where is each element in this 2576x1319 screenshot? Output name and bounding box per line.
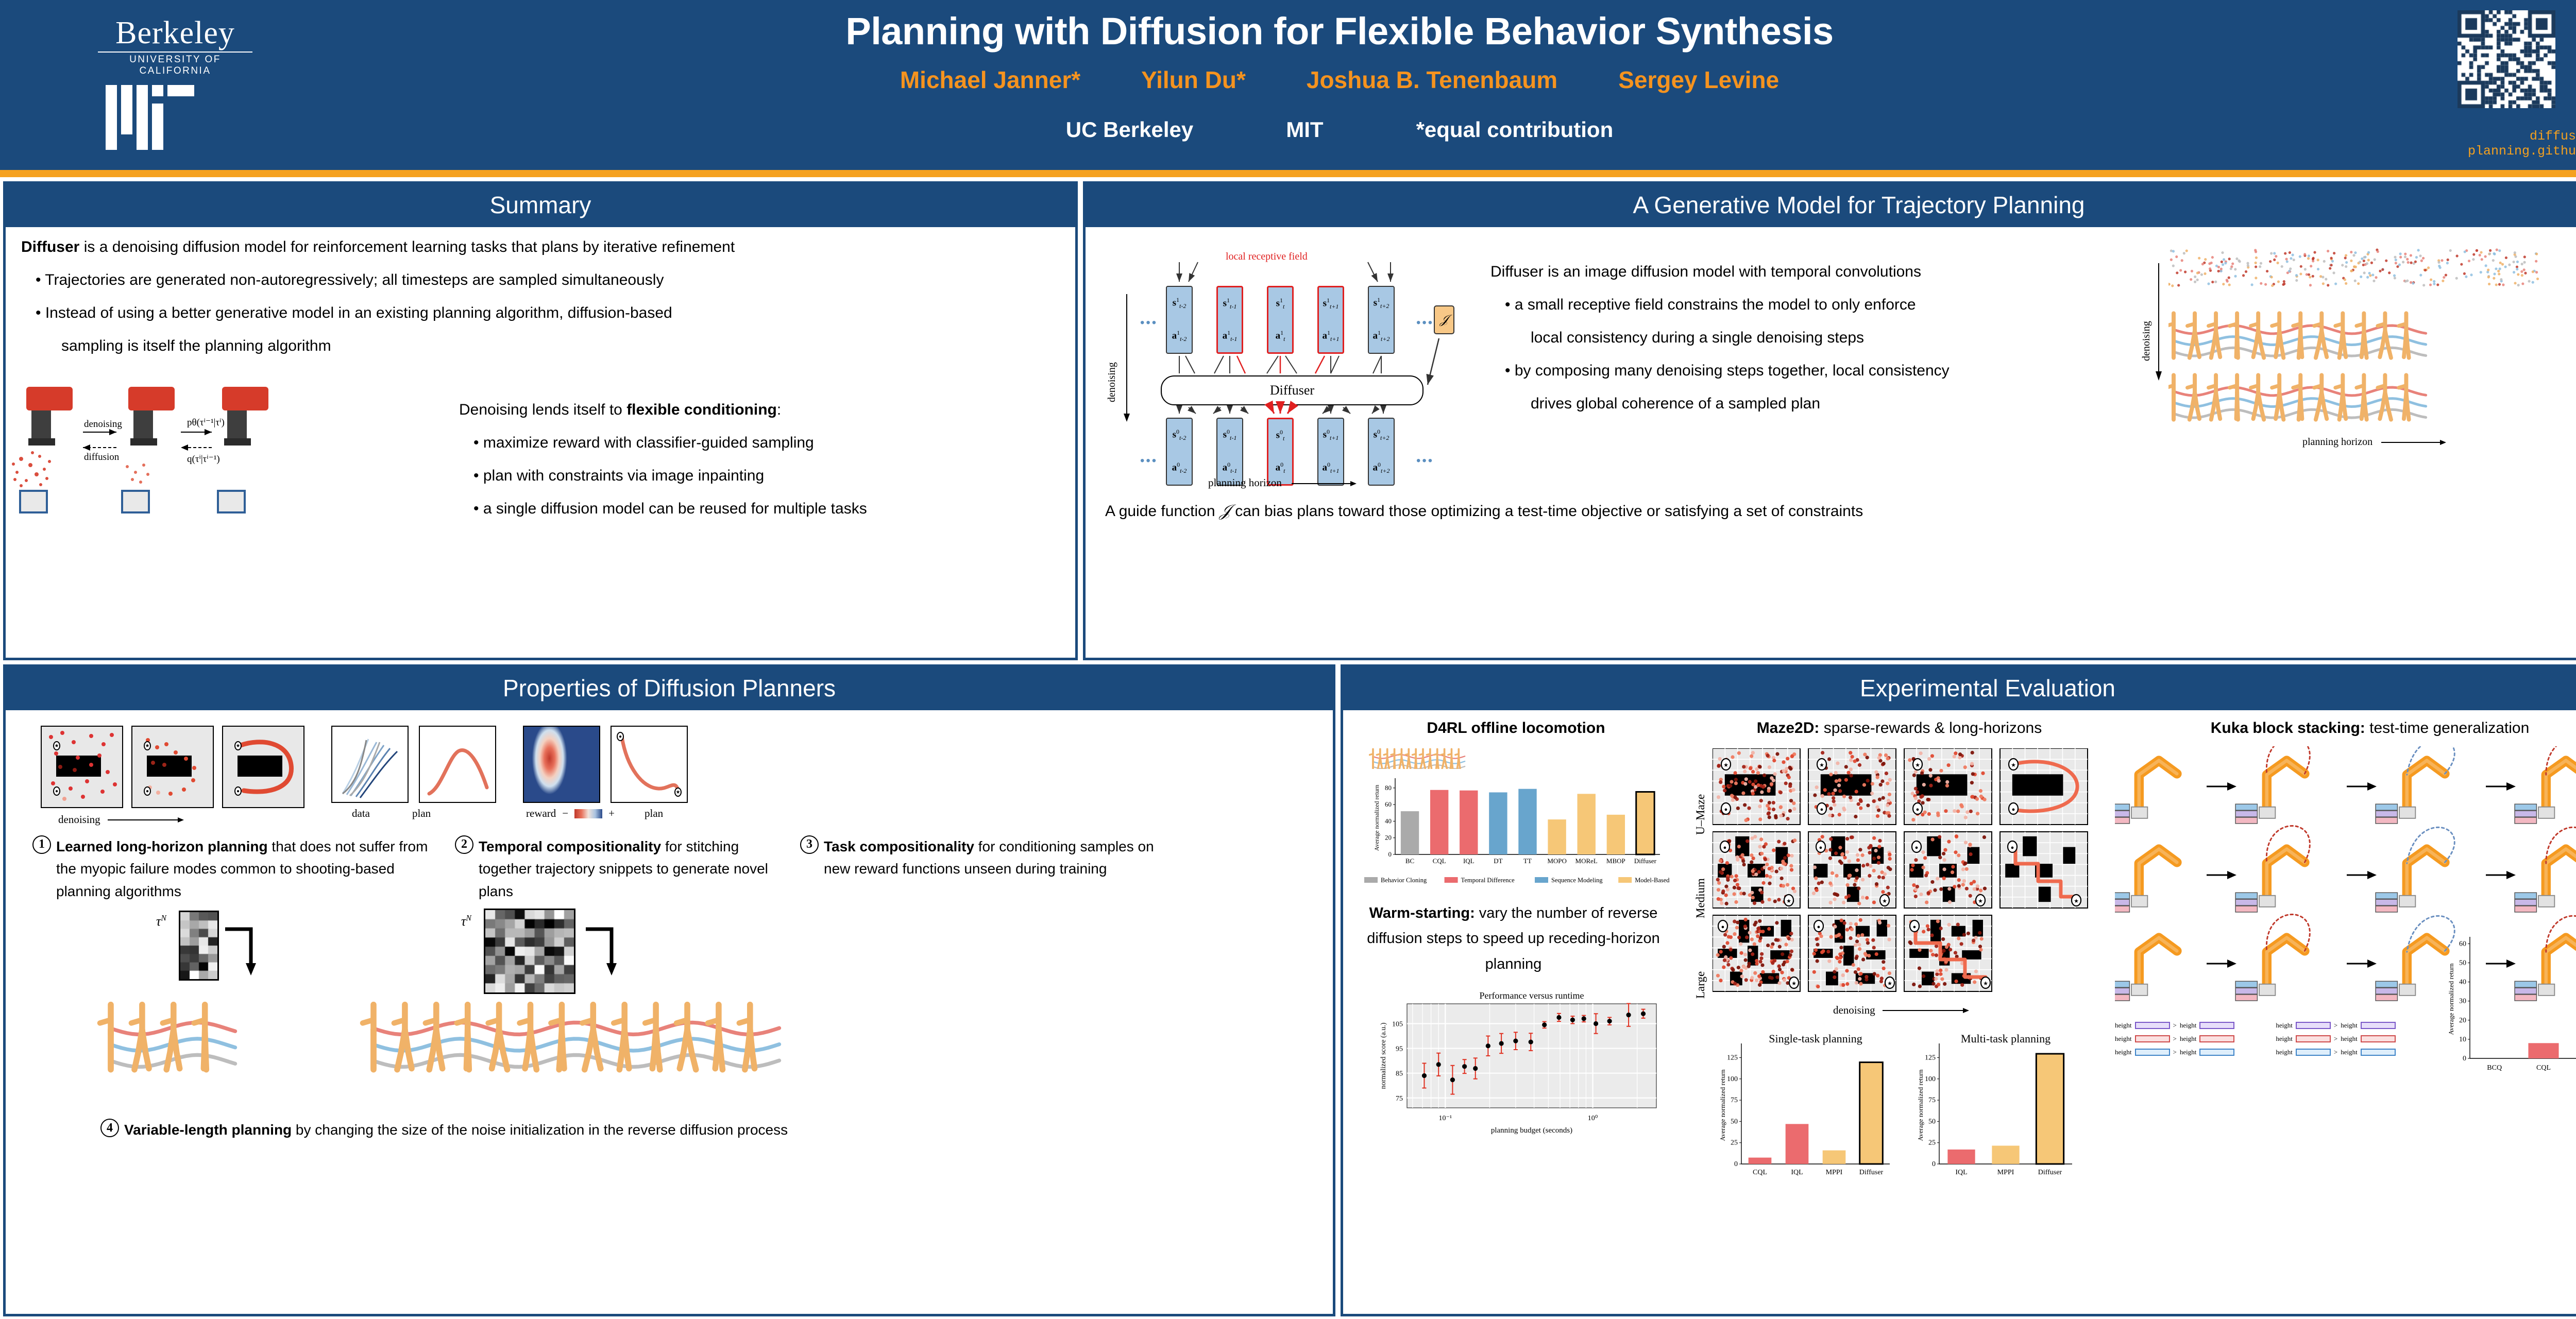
d4rl-title: D4RL offline locomotion bbox=[1350, 720, 1682, 737]
svg-text:IQL: IQL bbox=[1955, 1169, 1967, 1176]
summary-lead-bold: Diffuser bbox=[21, 238, 79, 255]
author-2: Joshua B. Tenenbaum bbox=[1307, 66, 1557, 94]
genmodel-footer-pre: A guide function bbox=[1105, 503, 1219, 520]
planning-horizon-text: planning horizon bbox=[1208, 476, 1282, 489]
svg-text:20: 20 bbox=[2459, 1017, 2466, 1024]
maze-goal-marker: ★ bbox=[144, 741, 151, 750]
kuka-height-label-b: height bbox=[2180, 1021, 2197, 1030]
conditioning-bullet-0: • maximize reward with classifier-guided… bbox=[487, 435, 1075, 451]
genmodel-bullet-3: drives global coherence of a sampled pla… bbox=[1531, 396, 2127, 412]
reward-heatmap bbox=[523, 726, 600, 803]
kuka-constraints-row: height>height height>height height>heigh… bbox=[2115, 1016, 2576, 1079]
kuka-block-swatch-b bbox=[2361, 1022, 2396, 1029]
maze-goal-marker: ★ bbox=[53, 741, 60, 750]
maze-start-marker: ● bbox=[53, 786, 60, 796]
svg-text:25: 25 bbox=[1731, 1139, 1738, 1147]
svg-text:★: ★ bbox=[2011, 762, 2016, 768]
svg-text:MPPI: MPPI bbox=[1997, 1169, 2014, 1176]
ellipsis-right-top: ••• bbox=[1416, 316, 1434, 330]
kuka-height-label-b: height bbox=[2341, 1035, 2358, 1043]
kuka-block-swatch-b bbox=[2361, 1049, 2396, 1056]
tau-label-short: τN bbox=[156, 914, 166, 929]
trajfig-denoising-label: denoising bbox=[2141, 321, 2153, 361]
maze2d-title-bold: Maze2D: bbox=[1757, 720, 1820, 736]
kuka-gt-symbol: > bbox=[2334, 1048, 2337, 1056]
label-reward: reward bbox=[526, 807, 556, 820]
schematic-denoising-label: denoising bbox=[1106, 362, 1118, 402]
svg-text:10: 10 bbox=[2459, 1036, 2466, 1043]
svg-text:●: ● bbox=[1915, 845, 1919, 851]
conditioning-lead-pre: Denoising lends itself to bbox=[459, 401, 626, 418]
svg-text:85: 85 bbox=[1396, 1070, 1403, 1078]
summary-conditioning: Denoising lends itself to flexible condi… bbox=[459, 371, 1075, 534]
kuka-gt-symbol: > bbox=[2173, 1035, 2177, 1043]
summary-heading: Summary bbox=[6, 184, 1075, 227]
svg-text:40: 40 bbox=[2459, 979, 2466, 986]
properties-figure-strip: ★ ● bbox=[18, 720, 1320, 826]
kuka-height-label-b: height bbox=[2341, 1048, 2358, 1056]
kuka-height-label-a: height bbox=[2115, 1035, 2132, 1043]
properties-heading: Properties of Diffusion Planners bbox=[6, 667, 1333, 710]
svg-text:Temporal Difference: Temporal Difference bbox=[1461, 877, 1515, 884]
prop1-denoising-label: denoising bbox=[58, 813, 100, 826]
svg-text:★: ★ bbox=[1819, 762, 1824, 768]
maze-grid: U–Maze Medium Large ★●★●★●★●●★●★●★●★●★●★… bbox=[1689, 748, 2110, 1017]
maze-row-label-0: U–Maze bbox=[1694, 794, 1707, 835]
genmodel-trajectory-figure: denoising planning horizon bbox=[2132, 232, 2576, 500]
property-item-4: 4 Variable-length planning by changing t… bbox=[18, 1119, 1320, 1141]
maze2d-title-rest: sparse-rewards & long-horizons bbox=[1819, 720, 2042, 736]
svg-text:TT: TT bbox=[1524, 857, 1532, 865]
svg-text:Multi-task planning: Multi-task planning bbox=[1961, 1032, 2050, 1045]
experiments-columns: D4RL offline locomotion 020406080BCCQLIQ… bbox=[1343, 710, 2576, 1183]
svg-text:★: ★ bbox=[1978, 898, 1983, 904]
svg-text:●: ● bbox=[2012, 807, 2015, 813]
kuka-constraint-5: height>height bbox=[2276, 1048, 2395, 1056]
author-3: Sergey Levine bbox=[1618, 66, 1779, 94]
qr-code[interactable] bbox=[2458, 10, 2555, 108]
maze-start-marker: ● bbox=[144, 786, 151, 796]
kuka-constraints-right: height>height height>height height>heigh… bbox=[2276, 1016, 2395, 1079]
svg-text:●: ● bbox=[1724, 807, 1728, 813]
kuka-title-rest: test-time generalization bbox=[2365, 720, 2530, 736]
maze-thumb-noisy: ★ ● bbox=[41, 726, 123, 808]
warm-start-text: Warm-starting: vary the number of revers… bbox=[1350, 888, 1682, 977]
kuka-block-swatch-b bbox=[2199, 1035, 2234, 1042]
kuka-title: Kuka block stacking: test-time generaliz… bbox=[2115, 720, 2576, 737]
state-action-box-top-4: s1t+2a1t+2 bbox=[1368, 286, 1395, 354]
kuka-title-bold: Kuka block stacking: bbox=[2211, 720, 2365, 736]
state-action-box-top-1: s1t-1a1t-1 bbox=[1216, 286, 1243, 354]
maze2d-title: Maze2D: sparse-rewards & long-horizons bbox=[1689, 720, 2110, 737]
svg-text:DT: DT bbox=[1494, 857, 1503, 865]
property-item-1: 1 Learned long-horizon planning that doe… bbox=[32, 835, 439, 902]
label-reward-plus: + bbox=[608, 807, 615, 820]
summary-lead: Diffuser is a denoising diffusion model … bbox=[21, 239, 1060, 255]
kuka-block-swatch-b bbox=[2199, 1049, 2234, 1056]
svg-text:Behavior Cloning: Behavior Cloning bbox=[1381, 877, 1427, 884]
variable-length-figure: τN τN bbox=[18, 905, 1320, 1122]
panel-experiments: Experimental Evaluation D4RL offline loc… bbox=[1341, 664, 2576, 1316]
conditioning-bullet-1: • plan with constraints via image inpain… bbox=[487, 468, 1075, 484]
property-bold-3: Task compositionality bbox=[824, 838, 974, 854]
kuka-height-label-b: height bbox=[2180, 1048, 2197, 1056]
trajfig-horizon-label: planning horizon bbox=[2302, 436, 2447, 448]
plan-goal-marker: ★ bbox=[674, 787, 682, 797]
prop-fig-1: ★ ● bbox=[41, 726, 304, 826]
berkeley-logo: Berkeley UNIVERSITY OF CALIFORNIA bbox=[98, 15, 252, 72]
state-action-box-bottom-1: s0t-1a0t-1 bbox=[1216, 418, 1243, 486]
prop-fig-2: data plan bbox=[331, 726, 496, 826]
svg-text:0: 0 bbox=[1734, 1160, 1738, 1168]
svg-text:Diffuser: Diffuser bbox=[1634, 857, 1657, 865]
svg-text:Average normalized return: Average normalized return bbox=[1719, 1069, 1726, 1141]
conditioning-lead-post: : bbox=[777, 401, 781, 418]
maze-thumb-mid: ★ ● bbox=[131, 726, 214, 808]
svg-text:MOPO: MOPO bbox=[1548, 857, 1567, 865]
page-title: Planning with Diffusion for Flexible Beh… bbox=[670, 9, 2009, 53]
svg-text:BC: BC bbox=[1405, 857, 1414, 865]
genmodel-text: Diffuser is an image diffusion model wit… bbox=[1478, 232, 2132, 500]
svg-text:50: 50 bbox=[1928, 1118, 1936, 1125]
ellipsis-left-bottom: ••• bbox=[1140, 454, 1158, 468]
maze-row-label-2: Large bbox=[1694, 971, 1707, 999]
local-receptive-field-label: local receptive field bbox=[1226, 251, 1308, 263]
svg-text:●: ● bbox=[1723, 845, 1727, 851]
label-plan: plan bbox=[412, 807, 431, 820]
svg-text:●: ● bbox=[1817, 924, 1821, 930]
svg-text:★: ★ bbox=[1887, 981, 1892, 987]
svg-text:50: 50 bbox=[1731, 1118, 1738, 1125]
kuka-height-label-a: height bbox=[2276, 1021, 2293, 1030]
genmodel-lead: Diffuser is an image diffusion model wit… bbox=[1490, 264, 2127, 280]
state-action-box-top-2: s1ta1t bbox=[1267, 286, 1294, 354]
tau-label-long: τN bbox=[461, 914, 471, 929]
svg-text:Model-Based Planning: Model-Based Planning bbox=[1635, 877, 1671, 884]
conditioning-lead-bold: flexible conditioning bbox=[626, 401, 777, 418]
genmodel-bullet-0: • a small receptive field constrains the… bbox=[1518, 297, 2127, 313]
svg-text:10⁻¹: 10⁻¹ bbox=[1439, 1115, 1452, 1122]
svg-text:60: 60 bbox=[1385, 800, 1392, 808]
kuka-constraint-0: height>height bbox=[2115, 1021, 2234, 1030]
svg-text:★: ★ bbox=[1882, 898, 1887, 904]
diffuser-schematic: denoising local receptive field ••• ••• … bbox=[1097, 232, 1478, 500]
properties-body: ★ ● bbox=[6, 710, 1333, 1151]
genmodel-footer: A guide function 𝒥 can bias plans toward… bbox=[1086, 500, 2576, 519]
ellipsis-left-top: ••• bbox=[1140, 316, 1158, 330]
svg-text:Average normalized return: Average normalized return bbox=[1917, 1069, 1924, 1141]
svg-text:normalized score (a.u.): normalized score (a.u.) bbox=[1380, 1022, 1387, 1089]
kuka-height-label-a: height bbox=[2276, 1035, 2293, 1043]
label-diffusion: diffusion bbox=[84, 452, 120, 462]
svg-text:60: 60 bbox=[2459, 940, 2466, 948]
label-plan-3: plan bbox=[645, 807, 663, 820]
ellipsis-right-bottom: ••• bbox=[1416, 454, 1434, 468]
state-action-box-top-0: s1t-2a1t-2 bbox=[1166, 286, 1193, 354]
kuka-gt-symbol: > bbox=[2334, 1021, 2337, 1030]
svg-text:80: 80 bbox=[1385, 784, 1392, 792]
svg-text:●: ● bbox=[1913, 924, 1917, 930]
kuka-constraint-4: height>height bbox=[2276, 1035, 2395, 1043]
state-action-box-bottom-0: s0t-2a0t-2 bbox=[1166, 418, 1193, 486]
svg-text:●: ● bbox=[1820, 807, 1824, 813]
svg-text:10⁰: 10⁰ bbox=[1588, 1115, 1598, 1122]
summary-bullet-2: sampling is itself the planning algorith… bbox=[61, 338, 1060, 354]
kuka-gt-symbol: > bbox=[2173, 1048, 2177, 1056]
kuka-block-swatch-a bbox=[2296, 1049, 2331, 1056]
svg-text:●: ● bbox=[1721, 924, 1725, 930]
property-number-3: 3 bbox=[800, 835, 819, 854]
svg-text:IQL: IQL bbox=[1463, 857, 1475, 865]
kuka-block-swatch-a bbox=[2296, 1022, 2331, 1029]
planning-horizon-label: planning horizon bbox=[1208, 476, 1358, 489]
kuka-height-label-a: height bbox=[2115, 1021, 2132, 1030]
svg-text:CQL: CQL bbox=[1753, 1169, 1767, 1176]
svg-text:75: 75 bbox=[1731, 1097, 1738, 1104]
state-action-box-bottom-3: s0t+1a0t+1 bbox=[1317, 418, 1344, 486]
affiliation-2: *equal contribution bbox=[1416, 117, 1614, 142]
svg-text:●: ● bbox=[1819, 845, 1823, 851]
svg-text:0: 0 bbox=[2463, 1055, 2466, 1063]
experiments-heading: Experimental Evaluation bbox=[1343, 667, 2576, 710]
header-divider bbox=[0, 170, 2576, 177]
property-item-2: 2 Temporal compositionality for stitchin… bbox=[455, 835, 785, 902]
svg-text:CQL: CQL bbox=[2536, 1064, 2551, 1072]
exp-col-kuka: Kuka block stacking: test-time generaliz… bbox=[2110, 715, 2576, 1183]
poster-header: Berkeley UNIVERSITY OF CALIFORNIA Planni… bbox=[0, 0, 2576, 170]
summary-bullet-0: • Trajectories are generated non-autoreg… bbox=[49, 272, 1060, 288]
summary-body: Diffuser is a denoising diffusion model … bbox=[6, 227, 1075, 354]
kuka-height-label-a: height bbox=[2115, 1048, 2132, 1056]
berkeley-wordmark: Berkeley bbox=[98, 15, 252, 50]
panel-summary: Summary Diffuser is a denoising diffusio… bbox=[3, 181, 1078, 660]
svg-text:75: 75 bbox=[1928, 1097, 1936, 1104]
properties-items-row: 1 Learned long-horizon planning that doe… bbox=[18, 826, 1320, 902]
svg-text:95: 95 bbox=[1396, 1045, 1403, 1053]
diffuser-module: Diffuser bbox=[1161, 375, 1423, 405]
exp-col-maze2d: Maze2D: sparse-rewards & long-horizons U… bbox=[1682, 715, 2110, 1183]
svg-text:★: ★ bbox=[1723, 762, 1728, 768]
berkeley-subtitle: UNIVERSITY OF CALIFORNIA bbox=[98, 52, 252, 77]
svg-text:MPPI: MPPI bbox=[1826, 1169, 1843, 1176]
maze-denoising-label: denoising bbox=[1833, 1004, 1875, 1017]
kuka-gt-symbol: > bbox=[2173, 1021, 2177, 1030]
svg-text:Single-task planning: Single-task planning bbox=[1769, 1032, 1862, 1045]
panel-properties: Properties of Diffusion Planners bbox=[3, 664, 1335, 1316]
svg-text:★: ★ bbox=[1915, 762, 1920, 768]
author-list: Michael Janner* Yilun Du* Joshua B. Tene… bbox=[670, 66, 2009, 94]
maze-row-label-1: Medium bbox=[1694, 878, 1707, 918]
plan-plot bbox=[419, 726, 496, 803]
genmodel-footer-post: can bias plans toward those optimizing a… bbox=[1231, 503, 1863, 520]
genmodel-heading: A Generative Model for Trajectory Planni… bbox=[1086, 184, 2576, 227]
property-number-1: 1 bbox=[32, 835, 51, 854]
plan-start-marker: ● bbox=[617, 732, 624, 741]
svg-text:100: 100 bbox=[1925, 1075, 1936, 1083]
author-1: Yilun Du* bbox=[1141, 66, 1246, 94]
kuka-height-label-b: height bbox=[2180, 1035, 2197, 1043]
conditioning-lead: Denoising lends itself to flexible condi… bbox=[459, 402, 1075, 418]
svg-text:30: 30 bbox=[2459, 998, 2466, 1005]
svg-text:Diffuser: Diffuser bbox=[1859, 1169, 1884, 1176]
genmodel-footer-symbol: 𝒥 bbox=[1219, 501, 1231, 520]
kuka-constraint-3: height>height bbox=[2276, 1021, 2395, 1030]
task-plan-plot: ● ★ bbox=[611, 726, 688, 803]
kuka-block-swatch-a bbox=[2296, 1035, 2331, 1042]
state-action-box-bottom-2: s0ta0t bbox=[1267, 418, 1294, 486]
label-p-theta: pθ(τⁱ⁻¹|τⁱ) bbox=[187, 417, 225, 428]
kuka-block-swatch-b bbox=[2361, 1035, 2396, 1042]
maze-start-marker: ● bbox=[234, 786, 242, 796]
summary-bullet-1: • Instead of using a better generative m… bbox=[49, 305, 1060, 321]
svg-text:20: 20 bbox=[1385, 834, 1392, 842]
svg-text:40: 40 bbox=[1385, 817, 1392, 825]
kuka-block-swatch-a bbox=[2135, 1035, 2170, 1042]
svg-text:★: ★ bbox=[2074, 898, 2079, 904]
maze-bar-charts: Single-task planning0255075100125CQLIQLM… bbox=[1709, 1028, 2110, 1183]
warm-start-bold: Warm-starting: bbox=[1369, 905, 1475, 921]
affiliation-list: UC Berkeley MIT *equal contribution bbox=[670, 117, 2009, 142]
state-action-box-top-3: s1t+1a1t+1 bbox=[1317, 286, 1344, 354]
svg-text:●: ● bbox=[2011, 845, 2014, 851]
label-denoising: denoising bbox=[84, 419, 122, 430]
trajfig-horizon-text: planning horizon bbox=[2302, 436, 2372, 448]
data-plot bbox=[331, 726, 409, 803]
svg-text:100: 100 bbox=[1727, 1075, 1738, 1083]
genmodel-bullet-2: • by composing many denoising steps toge… bbox=[1518, 363, 2127, 379]
poster-root: Berkeley UNIVERSITY OF CALIFORNIA Planni… bbox=[0, 0, 2576, 1319]
genmodel-bullet-1: local consistency during a single denois… bbox=[1531, 330, 2127, 346]
kuka-block-swatch-b bbox=[2199, 1022, 2234, 1029]
panel-generative-model: A Generative Model for Trajectory Planni… bbox=[1083, 181, 2576, 660]
svg-text:0: 0 bbox=[1932, 1160, 1936, 1168]
svg-text:105: 105 bbox=[1392, 1020, 1403, 1028]
project-url[interactable]: diffusion-planning.github.io bbox=[2391, 129, 2576, 159]
label-data: data bbox=[352, 807, 370, 820]
guide-function-box: 𝒥 bbox=[1434, 305, 1454, 334]
kuka-constraint-1: height>height bbox=[2115, 1035, 2234, 1043]
svg-text:★: ★ bbox=[1786, 898, 1791, 904]
genmodel-row: denoising local receptive field ••• ••• … bbox=[1086, 227, 2576, 500]
svg-text:★: ★ bbox=[1791, 981, 1797, 987]
affiliation-1: MIT bbox=[1286, 117, 1323, 142]
svg-text:Sequence Modeling: Sequence Modeling bbox=[1551, 877, 1603, 884]
summary-lead-rest: is a denoising diffusion model for reinf… bbox=[79, 238, 735, 255]
kuka-constraints-left: height>height height>height height>heigh… bbox=[2115, 1016, 2234, 1079]
summary-figure-row: denoising diffusion pθ(τⁱ⁻¹|τⁱ) q(τⁱ|τⁱ⁻… bbox=[6, 371, 1075, 534]
svg-text:planning budget (seconds): planning budget (seconds) bbox=[1491, 1126, 1572, 1135]
svg-text:125: 125 bbox=[1925, 1054, 1936, 1061]
property-bold-1: Learned long-horizon planning bbox=[56, 838, 268, 854]
kuka-block-swatch-a bbox=[2135, 1022, 2170, 1029]
kuka-constraint-2: height>height bbox=[2115, 1048, 2234, 1056]
property-number-2: 2 bbox=[455, 835, 473, 854]
svg-text:75: 75 bbox=[1396, 1095, 1403, 1103]
svg-text:25: 25 bbox=[1928, 1139, 1936, 1147]
svg-text:Diffuser: Diffuser bbox=[2038, 1169, 2062, 1176]
maze-goal-marker: ★ bbox=[234, 741, 242, 750]
reward-colorbar bbox=[574, 809, 602, 818]
svg-text:50: 50 bbox=[2459, 960, 2466, 967]
svg-text:CQL: CQL bbox=[1433, 857, 1446, 865]
svg-text:Average normalized return: Average normalized return bbox=[1373, 785, 1380, 851]
maze-thumb-plan: ★ ● bbox=[222, 726, 304, 808]
svg-text:0: 0 bbox=[1388, 850, 1392, 858]
author-0: Michael Janner* bbox=[900, 66, 1080, 94]
kuka-height-label-a: height bbox=[2276, 1048, 2293, 1056]
svg-text:Performance versus runtime: Performance versus runtime bbox=[1480, 990, 1584, 1001]
conditioning-bullet-2: • a single diffusion model can be reused… bbox=[487, 501, 1075, 517]
svg-text:★: ★ bbox=[1983, 981, 1988, 987]
svg-text:IQL: IQL bbox=[1791, 1169, 1803, 1176]
kuka-height-label-b: height bbox=[2341, 1021, 2358, 1030]
kuka-gt-symbol: > bbox=[2334, 1035, 2337, 1043]
property-rest-4: by changing the size of the noise initia… bbox=[292, 1122, 788, 1138]
property-bold-2: Temporal compositionality bbox=[479, 838, 661, 854]
svg-text:MBOP: MBOP bbox=[1606, 857, 1625, 865]
affiliation-0: UC Berkeley bbox=[1066, 117, 1193, 142]
property-bold-4: Variable-length planning bbox=[124, 1122, 292, 1138]
svg-text:BCQ: BCQ bbox=[2487, 1064, 2502, 1072]
mit-logo bbox=[106, 85, 240, 152]
svg-text:MOReL: MOReL bbox=[1575, 857, 1598, 865]
exp-col-d4rl: D4RL offline locomotion 020406080BCCQLIQ… bbox=[1350, 715, 1682, 1183]
state-action-box-bottom-4: s0t+2a0t+2 bbox=[1368, 418, 1395, 486]
property-item-3: 3 Task compositionality for conditioning… bbox=[800, 835, 1161, 902]
label-reward-minus: − bbox=[562, 807, 568, 820]
prop-fig-3: ● ★ reward − + plan bbox=[523, 726, 688, 826]
summary-diffusion-figure: denoising diffusion pθ(τⁱ⁻¹|τⁱ) q(τⁱ|τⁱ⁻… bbox=[6, 371, 459, 534]
label-q: q(τⁱ|τⁱ⁻¹) bbox=[187, 454, 220, 465]
svg-text:●: ● bbox=[1916, 807, 1920, 813]
svg-text:Average normalized return: Average normalized return bbox=[2447, 963, 2455, 1035]
kuka-block-swatch-a bbox=[2135, 1049, 2170, 1056]
svg-text:125: 125 bbox=[1727, 1054, 1738, 1061]
